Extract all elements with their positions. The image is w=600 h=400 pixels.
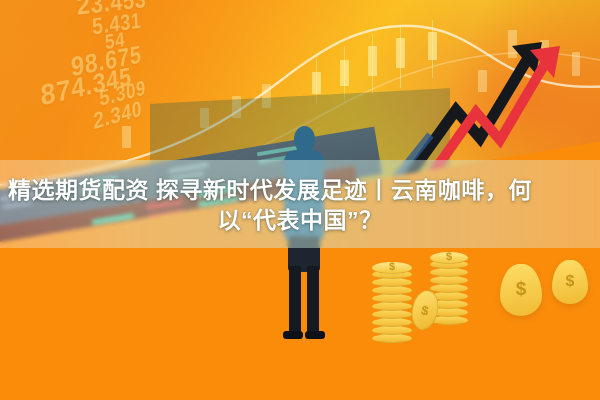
banner-image: 23.453 5.431 54 98.675 874.345 5.309 2.3… (0, 0, 600, 400)
money-bag-icon: $ (500, 264, 542, 316)
headline-line-2: 以“代表中国”？ (8, 205, 592, 235)
currency-symbol: $ (372, 263, 412, 272)
money-bag-icon: $ (552, 260, 588, 304)
headline-line-1: 精选期货配资 探寻新时代发展足迹丨云南咖啡，何 (8, 175, 592, 205)
headline: 精选期货配资 探寻新时代发展足迹丨云南咖啡，何 以“代表中国”？ (0, 162, 600, 248)
currency-symbol: $ (430, 253, 468, 262)
coin-stack-icon: $ (372, 262, 412, 344)
